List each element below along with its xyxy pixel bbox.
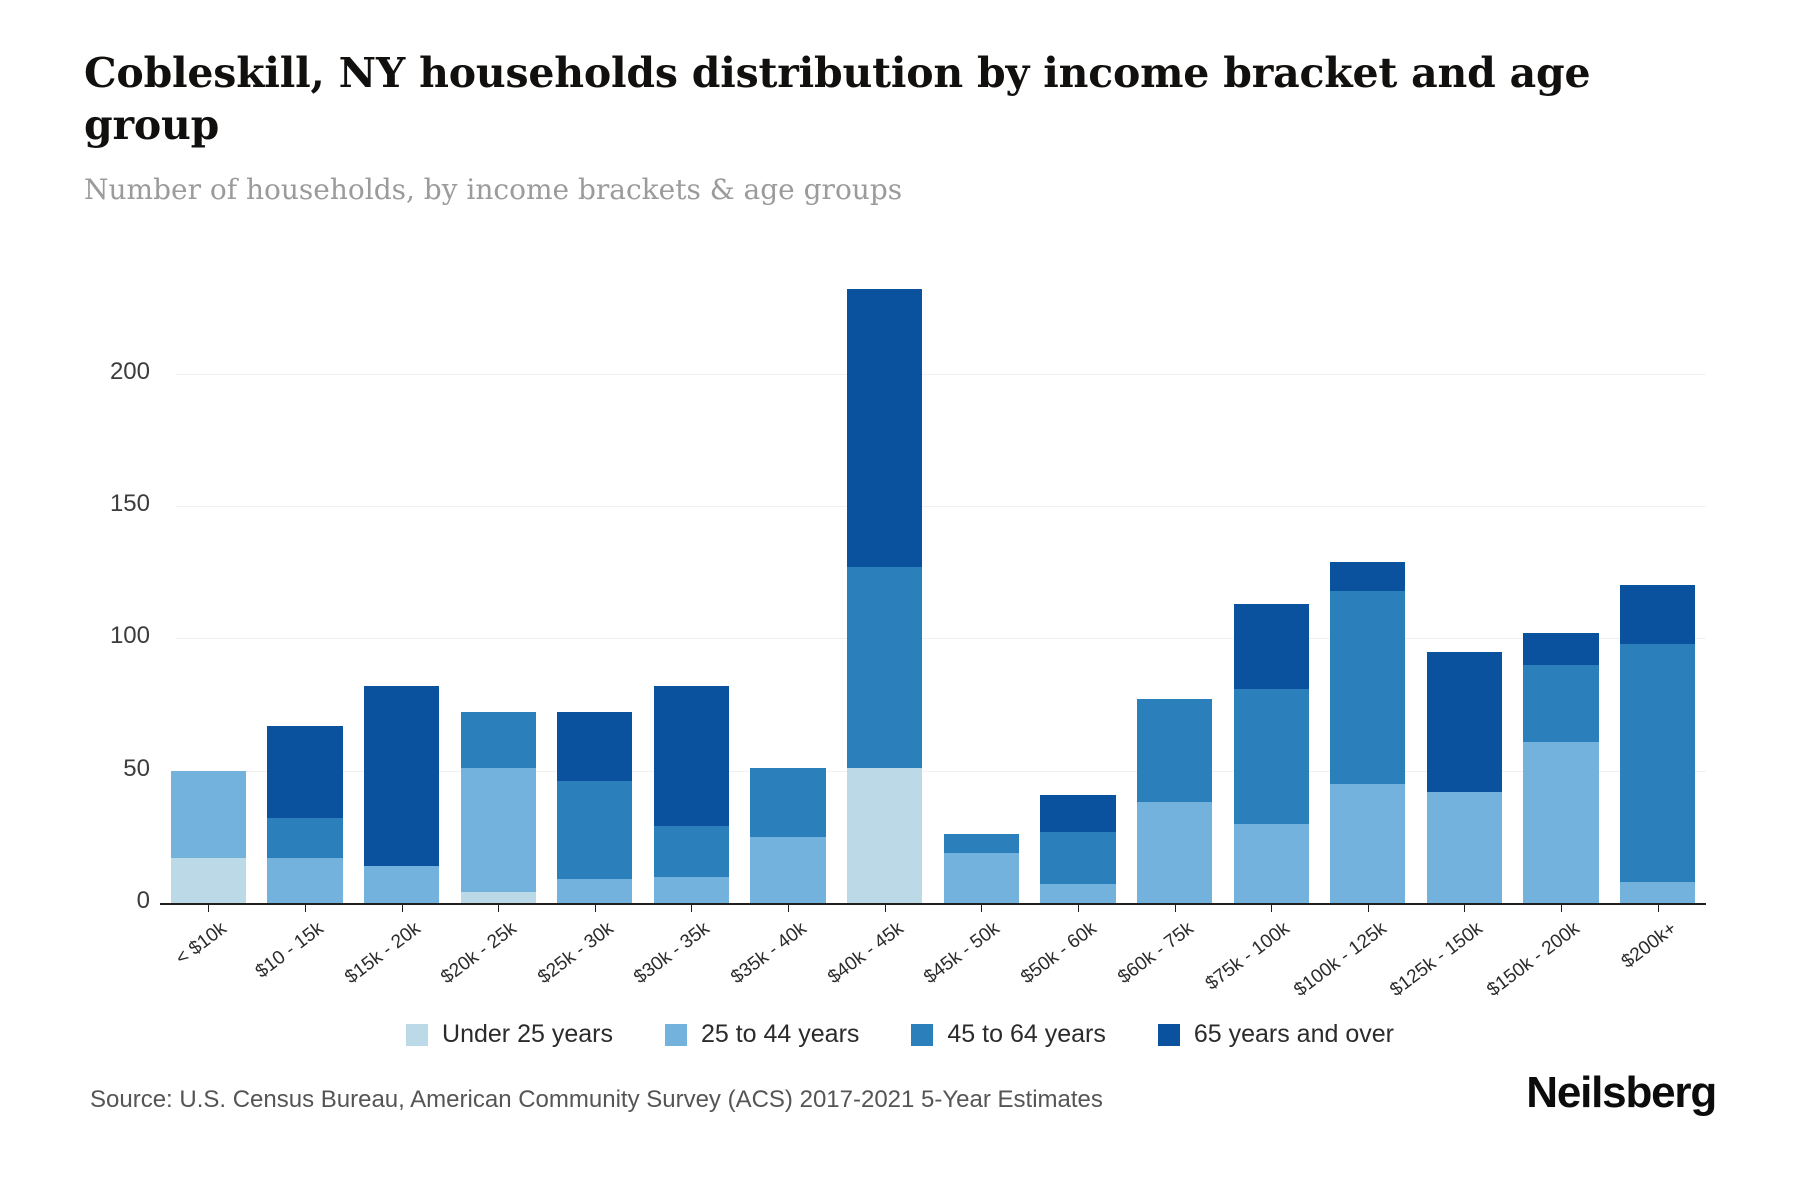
bar-stack bbox=[654, 686, 729, 903]
x-axis-tick bbox=[498, 903, 499, 912]
brand-logo: Neilsberg bbox=[1526, 1068, 1716, 1118]
x-axis-tick bbox=[595, 903, 596, 912]
bar-segment[interactable] bbox=[1523, 665, 1598, 742]
bar-stack bbox=[1330, 562, 1405, 903]
bar-stack bbox=[267, 726, 342, 903]
bar-segment[interactable] bbox=[847, 768, 922, 903]
bar-group[interactable] bbox=[847, 289, 922, 903]
bar-group[interactable] bbox=[944, 834, 1019, 903]
bar-segment[interactable] bbox=[171, 771, 246, 858]
bar-stack bbox=[1040, 795, 1115, 904]
x-axis-tick bbox=[402, 903, 403, 912]
bar-segment[interactable] bbox=[461, 712, 536, 768]
bar-segment[interactable] bbox=[750, 837, 825, 903]
bar-segment[interactable] bbox=[1330, 784, 1405, 903]
bar-segment[interactable] bbox=[557, 879, 632, 903]
bar-group[interactable] bbox=[557, 712, 632, 903]
bar-stack bbox=[847, 289, 922, 903]
chart-legend: Under 25 years25 to 44 years45 to 64 yea… bbox=[0, 1020, 1800, 1049]
bar-segment[interactable] bbox=[267, 818, 342, 858]
bar-segment[interactable] bbox=[267, 858, 342, 903]
legend-item-label: 45 to 64 years bbox=[947, 1020, 1105, 1049]
bar-segment[interactable] bbox=[1620, 882, 1695, 903]
bar-segment[interactable] bbox=[1137, 699, 1212, 802]
bar-stack bbox=[557, 712, 632, 903]
legend-swatch-icon bbox=[406, 1024, 428, 1046]
bar-segment[interactable] bbox=[654, 686, 729, 826]
x-axis-tick bbox=[1078, 903, 1079, 912]
bar-segment[interactable] bbox=[654, 877, 729, 903]
bar-segment[interactable] bbox=[847, 289, 922, 567]
bar-segment[interactable] bbox=[1234, 604, 1309, 689]
bar-stack bbox=[461, 712, 536, 903]
bar-stack bbox=[171, 771, 246, 903]
x-axis-tick bbox=[981, 903, 982, 912]
bar-stack bbox=[1234, 604, 1309, 903]
bar-group[interactable] bbox=[1330, 562, 1405, 903]
legend-item-label: 25 to 44 years bbox=[701, 1020, 859, 1049]
legend-item[interactable]: Under 25 years bbox=[406, 1020, 613, 1049]
x-axis-tick bbox=[788, 903, 789, 912]
x-axis-tick bbox=[208, 903, 209, 912]
bar-segment[interactable] bbox=[1523, 633, 1598, 665]
bar-segment[interactable] bbox=[267, 726, 342, 819]
x-axis-tick bbox=[1175, 903, 1176, 912]
bar-group[interactable] bbox=[654, 686, 729, 903]
x-axis-tick bbox=[885, 903, 886, 912]
bar-segment[interactable] bbox=[557, 712, 632, 781]
bar-segment[interactable] bbox=[364, 866, 439, 903]
bar-segment[interactable] bbox=[1330, 591, 1405, 784]
x-axis-tick bbox=[1271, 903, 1272, 912]
legend-item-label: 65 years and over bbox=[1194, 1020, 1394, 1049]
bar-segment[interactable] bbox=[364, 686, 439, 866]
bar-stack bbox=[1137, 699, 1212, 903]
bar-group[interactable] bbox=[1040, 795, 1115, 904]
legend-item[interactable]: 25 to 44 years bbox=[665, 1020, 859, 1049]
bar-segment[interactable] bbox=[654, 826, 729, 876]
legend-swatch-icon bbox=[911, 1024, 933, 1046]
bar-segment[interactable] bbox=[847, 567, 922, 768]
legend-swatch-icon bbox=[1158, 1024, 1180, 1046]
bar-segment[interactable] bbox=[461, 892, 536, 903]
bar-segment[interactable] bbox=[1523, 742, 1598, 903]
bar-stack bbox=[364, 686, 439, 903]
bar-segment[interactable] bbox=[1137, 802, 1212, 903]
bar-stack bbox=[944, 834, 1019, 903]
bar-segment[interactable] bbox=[944, 853, 1019, 903]
bar-segment[interactable] bbox=[1040, 884, 1115, 903]
legend-item-label: Under 25 years bbox=[442, 1020, 613, 1049]
bar-group[interactable] bbox=[1620, 585, 1695, 903]
x-axis-tick bbox=[1464, 903, 1465, 912]
bar-stack bbox=[1523, 633, 1598, 903]
bar-segment[interactable] bbox=[1620, 644, 1695, 882]
bar-group[interactable] bbox=[461, 712, 536, 903]
legend-item[interactable]: 45 to 64 years bbox=[911, 1020, 1105, 1049]
x-axis-tick bbox=[1561, 903, 1562, 912]
x-axis-tick bbox=[691, 903, 692, 912]
bar-segment[interactable] bbox=[750, 768, 825, 837]
bar-segment[interactable] bbox=[1620, 585, 1695, 643]
bar-segment[interactable] bbox=[944, 834, 1019, 853]
bar-segment[interactable] bbox=[1040, 795, 1115, 832]
bar-stack bbox=[1620, 585, 1695, 903]
bar-segment[interactable] bbox=[1234, 824, 1309, 903]
bar-group[interactable] bbox=[1427, 652, 1502, 903]
bar-group[interactable] bbox=[1234, 604, 1309, 903]
bar-segment[interactable] bbox=[461, 768, 536, 892]
source-note: Source: U.S. Census Bureau, American Com… bbox=[90, 1086, 1103, 1114]
legend-swatch-icon bbox=[665, 1024, 687, 1046]
bar-segment[interactable] bbox=[557, 781, 632, 879]
bar-segment[interactable] bbox=[171, 858, 246, 903]
x-axis-tick bbox=[1368, 903, 1369, 912]
bar-group[interactable] bbox=[171, 771, 246, 903]
bar-segment[interactable] bbox=[1234, 689, 1309, 824]
bar-segment[interactable] bbox=[1427, 652, 1502, 792]
chart-page: Cobleskill, NY households distribution b… bbox=[0, 0, 1800, 1200]
bar-group[interactable] bbox=[364, 686, 439, 903]
x-axis-tick bbox=[305, 903, 306, 912]
x-axis-tick bbox=[1658, 903, 1659, 912]
bar-stack bbox=[1427, 652, 1502, 903]
bar-segment[interactable] bbox=[1040, 832, 1115, 885]
bar-stack bbox=[750, 768, 825, 903]
legend-item[interactable]: 65 years and over bbox=[1158, 1020, 1394, 1049]
bar-group[interactable] bbox=[1523, 633, 1598, 903]
bar-group[interactable] bbox=[750, 768, 825, 903]
bar-segment[interactable] bbox=[1427, 792, 1502, 903]
bar-segment[interactable] bbox=[1330, 562, 1405, 591]
bar-group[interactable] bbox=[267, 726, 342, 903]
bar-group[interactable] bbox=[1137, 699, 1212, 903]
